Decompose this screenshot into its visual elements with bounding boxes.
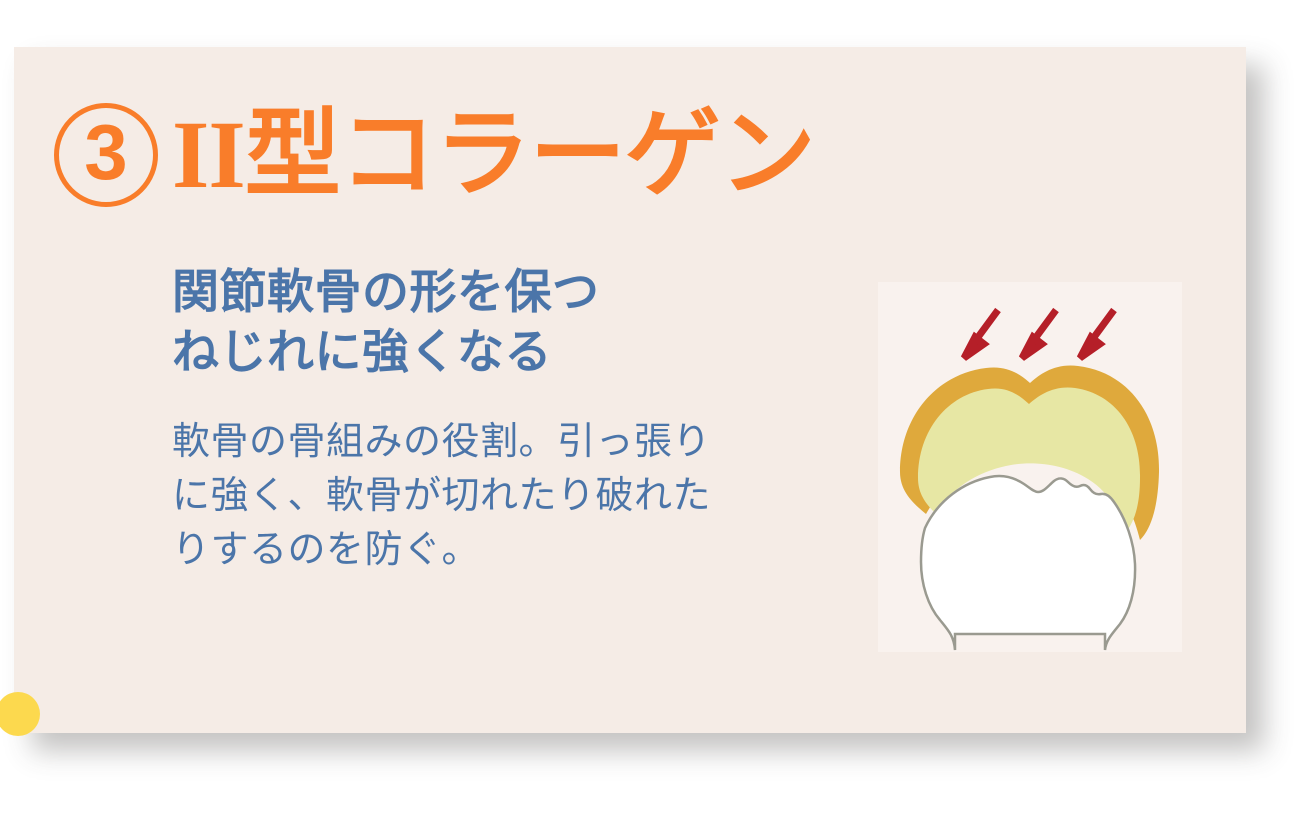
page-title: II型コラーゲン bbox=[172, 107, 815, 203]
slide-canvas: 3 II型コラーゲン 関節軟骨の形を保つ ねじれに強くなる 軟骨の骨組みの役割。… bbox=[0, 0, 1312, 814]
card-body: 関節軟骨の形を保つ ねじれに強くなる 軟骨の骨組みの役割。引っ張りに強く、軟骨が… bbox=[172, 262, 732, 578]
accent-dot bbox=[0, 692, 40, 736]
load-arrow-1 bbox=[964, 310, 998, 358]
load-arrow-3 bbox=[1080, 310, 1114, 358]
info-card: 3 II型コラーゲン 関節軟骨の形を保つ ねじれに強くなる 軟骨の骨組みの役割。… bbox=[14, 47, 1246, 733]
description-text: 軟骨の骨組みの役割。引っ張りに強く、軟骨が切れたり破れたりするのを防ぐ。 bbox=[172, 416, 732, 578]
step-number-badge: 3 bbox=[54, 103, 158, 207]
compressive-load-arrows bbox=[964, 310, 1114, 358]
card-header: 3 II型コラーゲン bbox=[54, 95, 815, 215]
title-kanji-part: II型 bbox=[172, 101, 340, 208]
subtitle-text: 関節軟骨の形を保つ ねじれに強くなる bbox=[172, 262, 732, 382]
bone-shape bbox=[921, 476, 1135, 650]
cartilage-bone-illustration bbox=[878, 282, 1182, 652]
title-kana-part: コラーゲン bbox=[340, 101, 815, 208]
illustration-panel bbox=[878, 282, 1182, 652]
load-arrow-2 bbox=[1022, 310, 1056, 358]
